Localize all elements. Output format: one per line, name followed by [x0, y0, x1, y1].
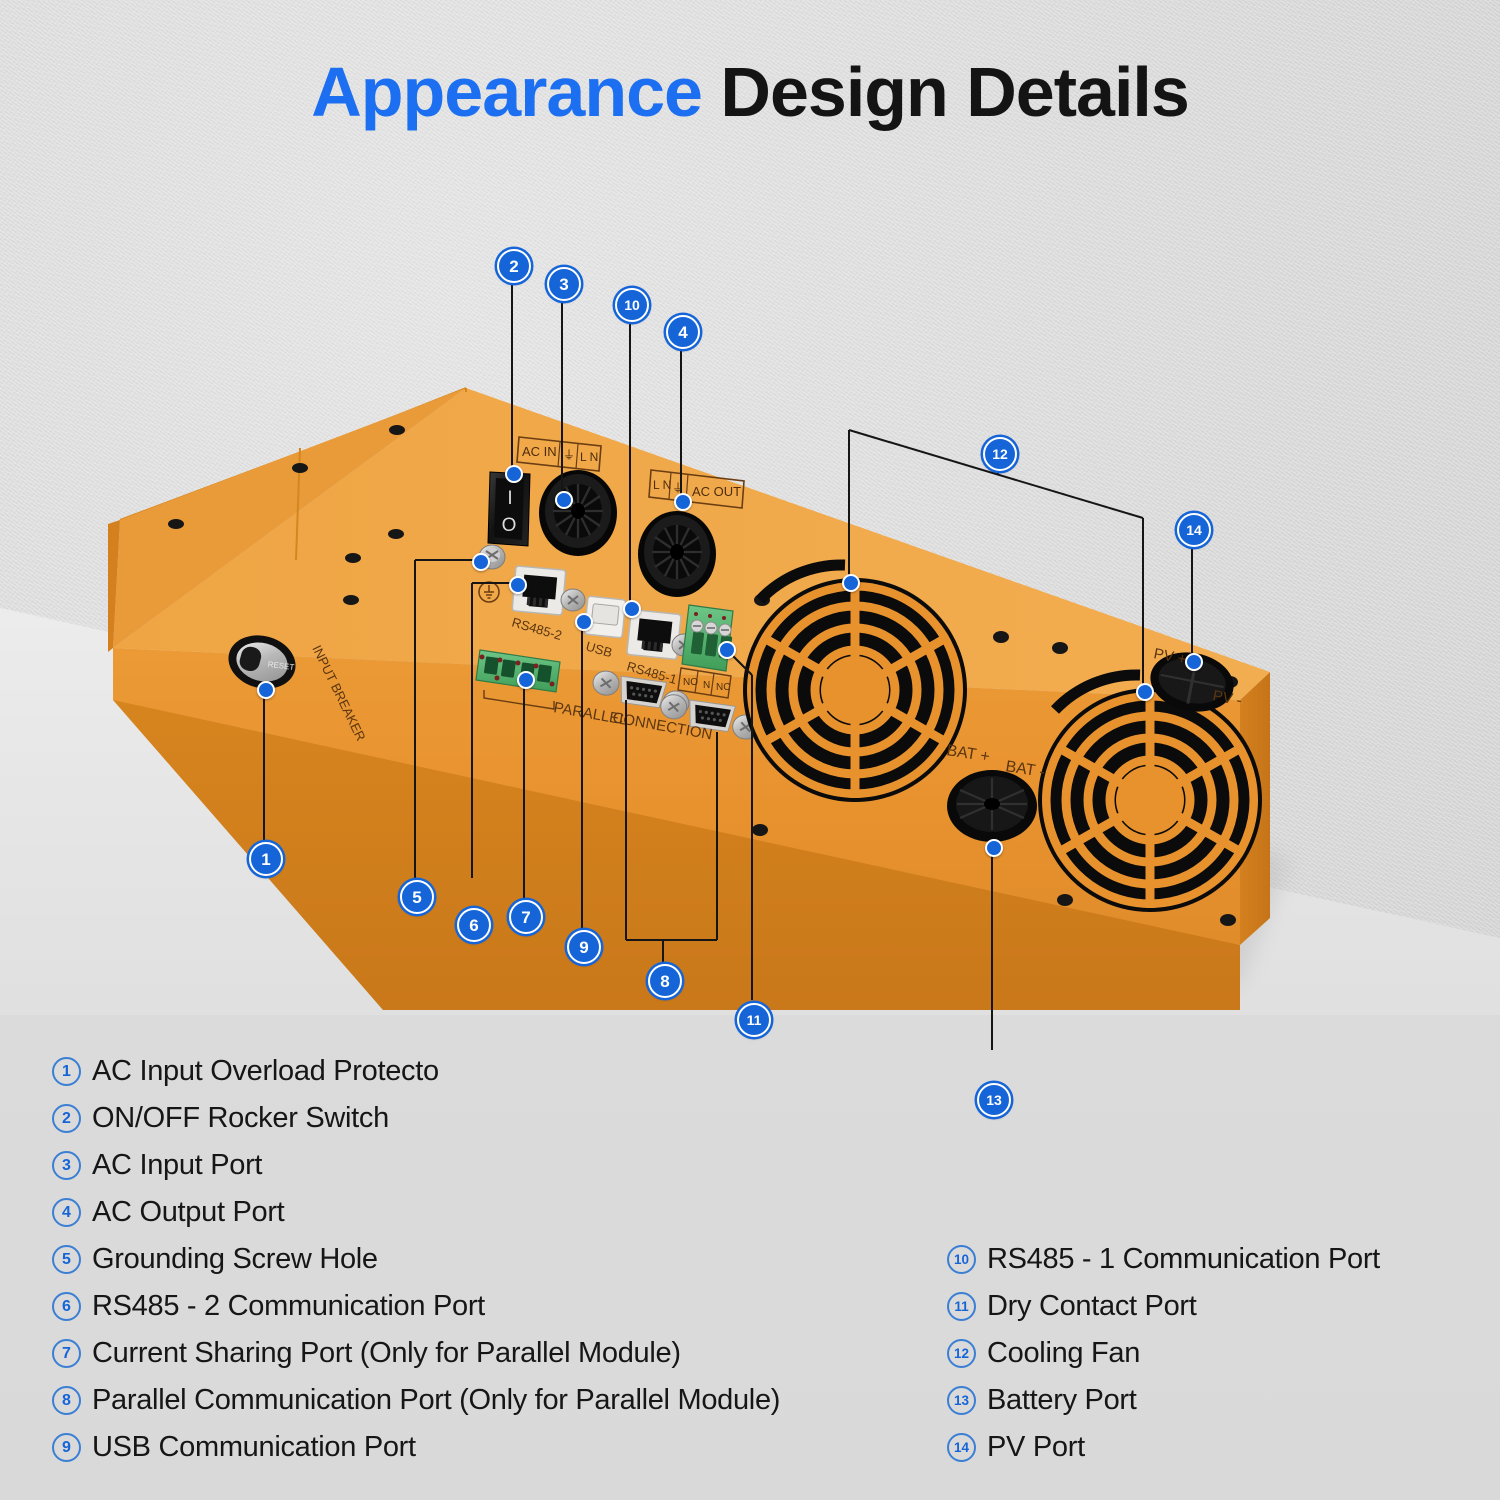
callout-dot-9	[575, 613, 593, 631]
legend-number-13: 13	[947, 1386, 976, 1415]
legend-item-7[interactable]: 7 Current Sharing Port (Only for Paralle…	[52, 1330, 952, 1377]
legend-label-3: AC Input Port	[92, 1149, 262, 1182]
ac-in-pins-label: L N	[580, 450, 598, 464]
legend-label-5: Grounding Screw Hole	[92, 1243, 378, 1276]
legend-label-7: Current Sharing Port (Only for Parallel …	[92, 1337, 681, 1370]
legend-item-13[interactable]: 13 Battery Port	[947, 1377, 1500, 1424]
callout-badge-1[interactable]: 1	[249, 842, 283, 876]
ac-in-label: AC IN	[522, 444, 557, 459]
callout-dot-6	[509, 576, 527, 594]
ac-out-label: AC OUT	[692, 484, 741, 499]
callout-badge-9[interactable]: 9	[567, 930, 601, 964]
legend-number-5: 5	[52, 1245, 81, 1274]
legend-item-5[interactable]: 5 Grounding Screw Hole	[52, 1236, 952, 1283]
legend-item-9[interactable]: 9 USB Communication Port	[52, 1424, 952, 1471]
legend-item-1[interactable]: 1 AC Input Overload Protecto	[52, 1048, 952, 1095]
callout-badge-6[interactable]: 6	[457, 908, 491, 942]
callout-dot-7	[517, 671, 535, 689]
dry-contact-n-label: N	[703, 680, 710, 691]
callout-badge-10[interactable]: 10	[615, 288, 649, 322]
legend-item-11[interactable]: 11 Dry Contact Port	[947, 1283, 1500, 1330]
dry-contact-port[interactable]	[682, 605, 733, 671]
dry-contact-no-label: NO	[683, 677, 698, 688]
callout-dot-5	[472, 553, 490, 571]
legend-item-10[interactable]: 10 RS485 - 1 Communication Port	[947, 1236, 1500, 1283]
rocker-switch[interactable]: I O	[488, 472, 530, 546]
legend-number-6: 6	[52, 1292, 81, 1321]
legend-number-9: 9	[52, 1433, 81, 1462]
callout-badge-2[interactable]: 2	[497, 249, 531, 283]
legend-number-3: 3	[52, 1151, 81, 1180]
dry-contact-nc-label: NC	[716, 682, 730, 693]
callout-badge-5[interactable]: 5	[400, 880, 434, 914]
callout-dot-4	[674, 493, 692, 511]
legend-column-left: 1 AC Input Overload Protecto 2 ON/OFF Ro…	[52, 1048, 952, 1471]
legend-label-13: Battery Port	[987, 1384, 1137, 1417]
legend-item-4[interactable]: 4 AC Output Port	[52, 1189, 952, 1236]
legend-label-11: Dry Contact Port	[987, 1290, 1197, 1323]
rocker-on-label: I	[507, 488, 512, 509]
ac-out-pins-label: L N	[653, 478, 671, 492]
callout-dot-2	[505, 465, 523, 483]
ac-in-ground-icon: ⏚	[563, 448, 575, 462]
callout-dot-10	[623, 600, 641, 618]
callout-dot-3	[555, 491, 573, 509]
legend-label-6: RS485 - 2 Communication Port	[92, 1290, 485, 1323]
callout-badge-3[interactable]: 3	[547, 267, 581, 301]
callout-dot-13	[985, 839, 1003, 857]
callout-dot-11	[718, 641, 736, 659]
callout-dot-12a	[842, 574, 860, 592]
legend-number-2: 2	[52, 1104, 81, 1133]
callout-badge-7[interactable]: 7	[509, 900, 543, 934]
legend-number-4: 4	[52, 1198, 81, 1227]
callout-badge-12[interactable]: 12	[983, 437, 1017, 471]
callout-dot-1	[257, 681, 275, 699]
callout-badge-13[interactable]: 13	[977, 1083, 1011, 1117]
legend-number-1: 1	[52, 1057, 81, 1086]
panel-screw-1	[561, 589, 585, 611]
legend-label-4: AC Output Port	[92, 1196, 284, 1229]
legend-number-14: 14	[947, 1433, 976, 1462]
legend-number-10: 10	[947, 1245, 976, 1274]
legend-label-1: AC Input Overload Protecto	[92, 1055, 439, 1088]
legend-item-3[interactable]: 3 AC Input Port	[52, 1142, 952, 1189]
callout-dot-12b	[1136, 683, 1154, 701]
legend-item-14[interactable]: 14 PV Port	[947, 1424, 1500, 1471]
callout-badge-11[interactable]: 11	[737, 1003, 771, 1037]
legend-item-12[interactable]: 12 Cooling Fan	[947, 1330, 1500, 1377]
callout-badge-4[interactable]: 4	[666, 315, 700, 349]
inverter-device: RESET INPUT BREAKER I O AC IN ⏚ L N	[0, 0, 1500, 1050]
legend-item-8[interactable]: 8 Parallel Communication Port (Only for …	[52, 1377, 952, 1424]
legend-label-14: PV Port	[987, 1431, 1085, 1464]
legend-label-12: Cooling Fan	[987, 1337, 1140, 1370]
legend-item-2[interactable]: 2 ON/OFF Rocker Switch	[52, 1095, 952, 1142]
rocker-off-label: O	[502, 515, 517, 536]
legend-label-2: ON/OFF Rocker Switch	[92, 1102, 389, 1135]
callout-dot-14	[1185, 653, 1203, 671]
callout-badge-14[interactable]: 14	[1177, 513, 1211, 547]
legend-number-7: 7	[52, 1339, 81, 1368]
legend-number-8: 8	[52, 1386, 81, 1415]
legend-column-right: 10 RS485 - 1 Communication Port 11 Dry C…	[947, 1236, 1500, 1471]
legend-number-12: 12	[947, 1339, 976, 1368]
legend-number-11: 11	[947, 1292, 976, 1321]
legend-label-9: USB Communication Port	[92, 1431, 416, 1464]
battery-port[interactable]	[947, 770, 1037, 842]
callout-badge-8[interactable]: 8	[648, 964, 682, 998]
ac-output-port[interactable]	[638, 511, 716, 597]
legend-label-8: Parallel Communication Port (Only for Pa…	[92, 1384, 780, 1417]
legend-label-10: RS485 - 1 Communication Port	[987, 1243, 1380, 1276]
legend-item-6[interactable]: 6 RS485 - 2 Communication Port	[52, 1283, 952, 1330]
ac-input-port[interactable]	[539, 470, 617, 556]
